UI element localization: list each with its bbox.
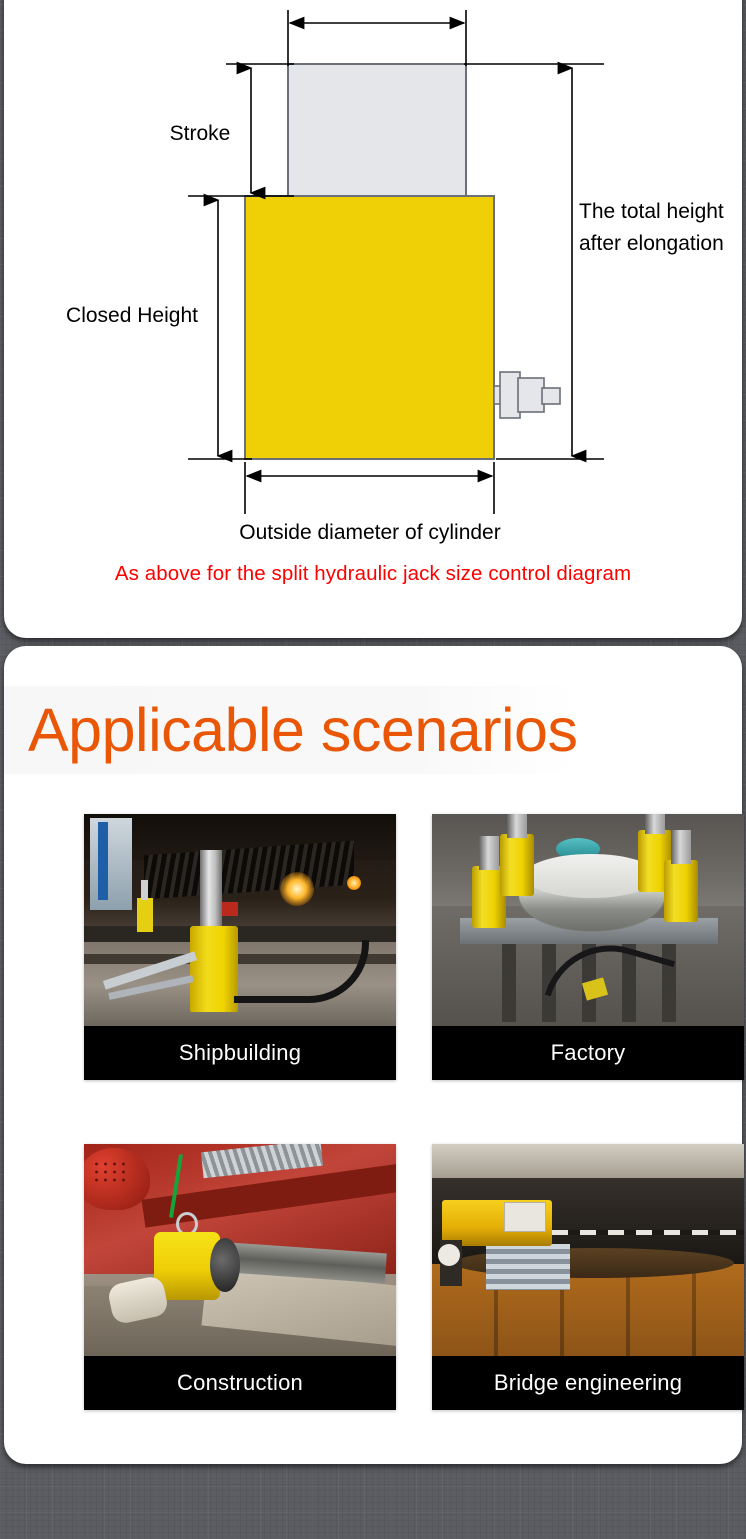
jack-dimension-diagram: Outside diameter of piston Stroke Closed… — [4, 0, 742, 550]
construction-photo — [84, 1144, 396, 1356]
scenario-card-factory[interactable]: Factory — [432, 814, 744, 1080]
scenario-label-factory: Factory — [432, 1026, 744, 1080]
scenario-label-shipbuilding: Shipbuilding — [84, 1026, 396, 1080]
piston-diameter-dimension — [288, 10, 466, 66]
diagram-panel: Outside diameter of piston Stroke Closed… — [4, 0, 742, 638]
label-closed-height: Closed Height — [66, 304, 198, 327]
label-total-height-line1: The total height — [579, 200, 724, 223]
scenarios-panel: Applicable scenarios — [4, 646, 742, 1464]
closed-height-dimension — [188, 200, 252, 459]
cylinder-diameter-dimension — [245, 462, 494, 514]
scenario-label-bridge-engineering: Bridge engineering — [432, 1356, 744, 1410]
scenario-card-bridge-engineering[interactable]: Bridge engineering — [432, 1144, 744, 1410]
scenario-card-shipbuilding[interactable]: Shipbuilding — [84, 814, 396, 1080]
hydraulic-port-fitting — [494, 372, 560, 418]
label-outside-diameter-cylinder: Outside diameter of cylinder — [239, 521, 500, 544]
label-total-height-line2: after elongation — [579, 232, 724, 255]
scenarios-title-band: Applicable scenarios — [4, 686, 574, 774]
factory-photo — [432, 814, 744, 1026]
page-stage: Outside diameter of piston Stroke Closed… — [0, 0, 746, 1539]
scenarios-title: Applicable scenarios — [28, 684, 577, 776]
label-stroke: Stroke — [170, 122, 231, 145]
shipbuilding-photo — [84, 814, 396, 1026]
diagram-caption: As above for the split hydraulic jack si… — [4, 562, 742, 586]
scenario-card-grid: Shipbuilding — [44, 798, 704, 1426]
scenario-label-construction: Construction — [84, 1356, 396, 1410]
cylinder-shape — [245, 196, 494, 459]
scenario-card-construction[interactable]: Construction — [84, 1144, 396, 1410]
piston-shape — [288, 64, 466, 198]
bridge-engineering-photo — [432, 1144, 744, 1356]
